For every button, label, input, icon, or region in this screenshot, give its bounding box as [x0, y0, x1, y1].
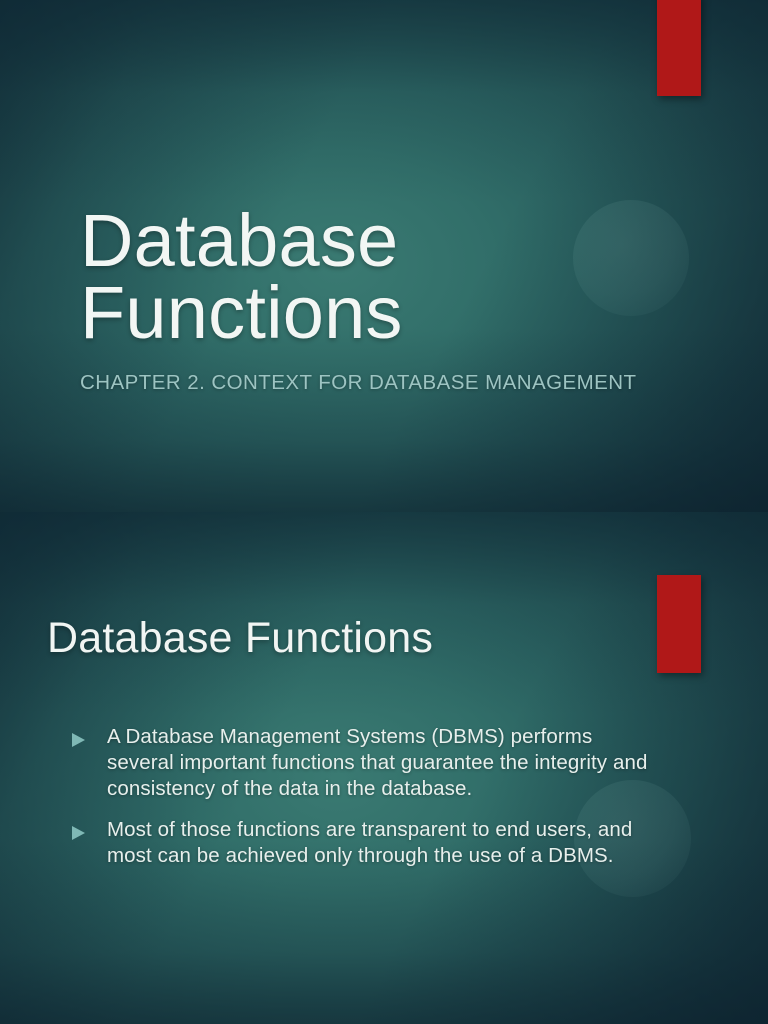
slide-title-line-1: Database [80, 205, 680, 277]
bullet-list: A Database Management Systems (DBMS) per… [72, 724, 652, 884]
bullet-text: A Database Management Systems (DBMS) per… [107, 724, 652, 802]
list-item: Most of those functions are transparent … [72, 817, 652, 869]
slide-title-line-2: Functions [80, 277, 680, 349]
slide-title: Database Functions CHAPTER 2. CONTEXT FO… [0, 0, 768, 512]
presentation-deck: Database Functions CHAPTER 2. CONTEXT FO… [0, 0, 768, 1024]
triangle-right-icon [72, 733, 85, 747]
title-block: Database Functions CHAPTER 2. CONTEXT FO… [80, 205, 680, 395]
accent-bar-red-top [657, 0, 701, 96]
accent-bar-red-content [657, 575, 701, 673]
triangle-right-icon [72, 826, 85, 840]
content-heading: Database Functions [47, 614, 433, 663]
list-item: A Database Management Systems (DBMS) per… [72, 724, 652, 802]
bullet-text: Most of those functions are transparent … [107, 817, 652, 869]
slide-subtitle: CHAPTER 2. CONTEXT FOR DATABASE MANAGEME… [80, 371, 680, 395]
